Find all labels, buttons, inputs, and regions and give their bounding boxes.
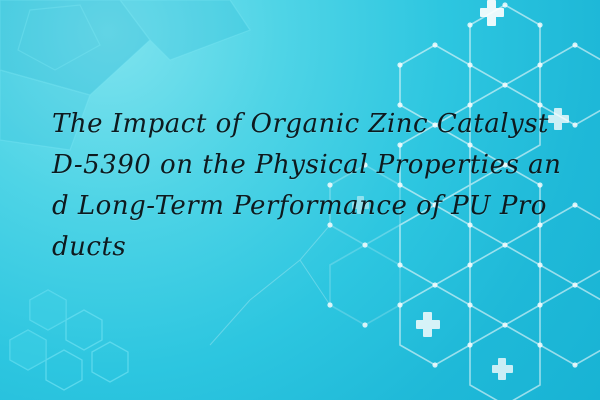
page-title: The Impact of Organic Zinc Catalyst D-53… xyxy=(52,104,562,268)
title-banner: The Impact of Organic Zinc Catalyst D-53… xyxy=(0,0,600,400)
cross-icon xyxy=(480,0,504,26)
hexagon-cluster-bottom-left xyxy=(10,290,128,390)
cross-icon xyxy=(416,312,440,337)
cross-icon xyxy=(492,358,513,380)
hexagon-cluster-bottom-left-fill xyxy=(10,290,66,370)
